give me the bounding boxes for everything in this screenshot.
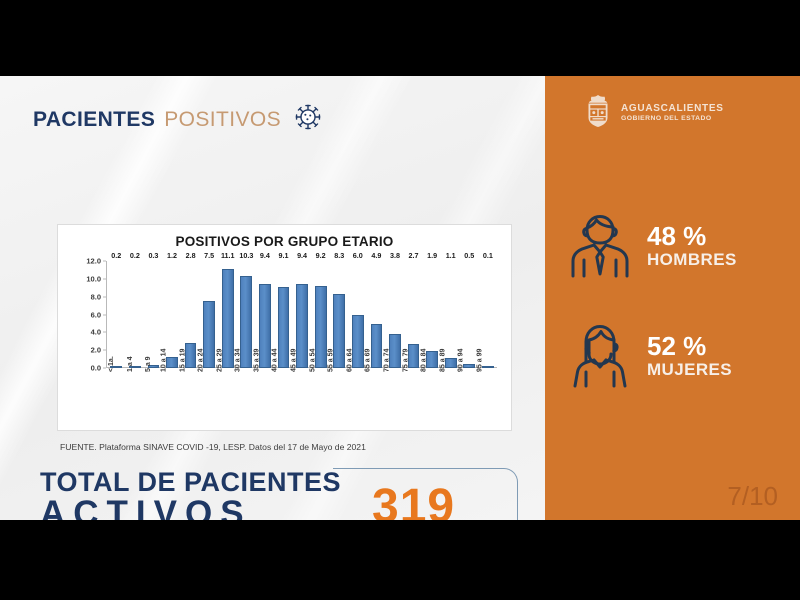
slide-header: PACIENTES POSITIVOS — [33, 102, 323, 137]
x-tick-label: 85 a 89 — [439, 349, 446, 372]
y-tick-label: 2.0 — [91, 346, 101, 355]
logo-title: AGUASCALIENTES — [621, 103, 724, 115]
government-logo: AGUASCALIENTES GOBIERNO DEL ESTADO — [583, 94, 724, 133]
bar-value-label: 9.2 — [316, 251, 326, 260]
bar-value-label: 1.1 — [446, 251, 456, 260]
x-tick-label: 60 a 64 — [346, 349, 353, 372]
stat-percent: 52 % — [647, 333, 732, 360]
bar[interactable]: 9.2 — [315, 286, 327, 368]
x-tick-label: 90 a 94 — [458, 349, 465, 372]
stat-hombres: 48 % HOMBRES — [567, 208, 737, 285]
bar[interactable]: 6.0 — [352, 315, 364, 369]
total-value: 319 — [372, 479, 455, 520]
y-tick-mark — [103, 350, 106, 351]
stat-text: 48 % HOMBRES — [647, 223, 737, 270]
bar-value-label: 7.5 — [204, 251, 214, 260]
x-tick-label: 65 a 69 — [365, 349, 372, 372]
x-tick-label: 20 a 24 — [197, 349, 204, 372]
bar[interactable]: 0.5 — [463, 364, 475, 368]
bar[interactable]: 1.2 — [166, 357, 178, 368]
x-tick-label: 45 a 49 — [290, 349, 297, 372]
bar[interactable]: 9.4 — [296, 284, 308, 368]
stat-label: HOMBRES — [647, 250, 737, 270]
bar-value-label: 3.8 — [390, 251, 400, 260]
bar-value-label: 2.8 — [186, 251, 196, 260]
y-tick-label: 10.0 — [86, 274, 101, 283]
bar-value-label: 0.3 — [148, 251, 158, 260]
bar-series: 0.2< 1a.0.21 a 40.35 a 91.210 a 142.815 … — [107, 261, 497, 368]
bar-value-label: 11.1 — [221, 251, 235, 260]
header-title-bold: PACIENTES — [33, 108, 155, 132]
x-tick-label: 55 a 59 — [328, 349, 335, 372]
total-block: TOTAL DE PACIENTES ACTIVOS — [40, 468, 341, 520]
x-tick-label: 40 a 44 — [272, 349, 279, 372]
bar[interactable]: 0.1 — [482, 366, 494, 368]
slide-stage: PACIENTES POSITIVOS — [0, 0, 800, 600]
bar-value-label: 2.7 — [409, 251, 419, 260]
y-tick-mark — [103, 278, 106, 279]
bar[interactable]: 3.8 — [389, 334, 401, 368]
total-label-line2: ACTIVOS — [40, 496, 341, 520]
x-tick-label: 50 a 54 — [309, 349, 316, 372]
bar-value-label: 0.1 — [483, 251, 493, 260]
logo-text: AGUASCALIENTES GOBIERNO DEL ESTADO — [621, 103, 724, 123]
bar[interactable]: 7.5 — [203, 301, 215, 368]
male-avatar-icon — [567, 208, 633, 285]
x-tick-label: < 1a. — [108, 356, 115, 372]
bar-value-label: 6.0 — [353, 251, 363, 260]
bar-value-label: 4.9 — [371, 251, 381, 260]
stat-mujeres: 52 % MUJERES — [567, 318, 732, 395]
bar[interactable]: 11.1 — [222, 269, 234, 368]
y-tick-label: 4.0 — [91, 328, 101, 337]
bar-value-label: 9.4 — [297, 251, 307, 260]
y-tick-mark — [103, 296, 106, 297]
coat-of-arms-icon — [583, 94, 613, 133]
x-tick-label: 35 a 39 — [253, 349, 260, 372]
x-tick-label: 80 a 84 — [420, 349, 427, 372]
bar[interactable]: 2.7 — [408, 344, 420, 368]
stat-text: 52 % MUJERES — [647, 333, 732, 380]
y-tick-mark — [103, 332, 106, 333]
bar-column[interactable]: 0.2< 1a. — [107, 261, 126, 368]
bar-value-label: 9.1 — [278, 251, 288, 260]
header-title-light: POSITIVOS — [164, 108, 281, 132]
bar-value-label: 0.2 — [130, 251, 140, 260]
y-tick-mark — [103, 314, 106, 315]
bar[interactable]: 9.4 — [259, 284, 271, 368]
bar[interactable]: 9.1 — [278, 287, 290, 368]
y-tick-label: 12.0 — [86, 257, 101, 266]
bar[interactable]: 1.9 — [426, 351, 438, 368]
page-number: 7/10 — [727, 481, 778, 512]
bar-value-label: 8.3 — [334, 251, 344, 260]
bar[interactable]: 1.1 — [445, 358, 457, 368]
bar-value-label: 10.3 — [239, 251, 253, 260]
total-label-line1: TOTAL DE PACIENTES — [40, 468, 341, 496]
x-tick-label: 10 a 14 — [160, 349, 167, 372]
x-tick-label: 25 a 29 — [216, 349, 223, 372]
y-tick-mark — [103, 368, 106, 369]
bar[interactable]: 4.9 — [371, 324, 383, 368]
bar[interactable]: 10.3 — [240, 276, 252, 368]
stat-label: MUJERES — [647, 360, 732, 380]
bar-column[interactable]: 0.195 a 99 — [479, 261, 498, 368]
bar-value-label: 1.9 — [427, 251, 437, 260]
x-tick-label: 1 a 4 — [127, 356, 134, 372]
x-tick-label: 5 a 9 — [146, 356, 153, 372]
chart-plot-area: 0.02.04.06.08.010.012.0 0.2< 1a.0.21 a 4… — [106, 261, 497, 368]
x-tick-label: 95 a 99 — [476, 349, 483, 372]
y-tick-label: 8.0 — [91, 292, 101, 301]
source-note: FUENTE. Plataforma SINAVE COVID -19, LES… — [60, 442, 366, 452]
slide-content: PACIENTES POSITIVOS — [0, 76, 800, 520]
y-tick-mark — [103, 261, 106, 262]
bar-value-label: 0.5 — [464, 251, 474, 260]
female-avatar-icon — [567, 318, 633, 395]
y-tick-label: 6.0 — [91, 310, 101, 319]
virus-icon — [293, 102, 323, 137]
chart-title: POSITIVOS POR GRUPO ETARIO — [58, 234, 511, 249]
bar-value-label: 9.4 — [260, 251, 270, 260]
stat-percent: 48 % — [647, 223, 737, 250]
bar-value-label: 0.2 — [111, 251, 121, 260]
y-tick-label: 0.0 — [91, 364, 101, 373]
x-tick-label: 15 a 19 — [179, 349, 186, 372]
x-tick-label: 70 a 74 — [383, 349, 390, 372]
chart-card: POSITIVOS POR GRUPO ETARIO 0.02.04.06.08… — [57, 224, 512, 431]
x-tick-label: 75 a 79 — [402, 349, 409, 372]
bar[interactable]: 8.3 — [333, 294, 345, 368]
sidebar-panel: AGUASCALIENTES GOBIERNO DEL ESTADO — [545, 76, 800, 520]
bar[interactable]: 2.8 — [185, 343, 197, 368]
logo-subtitle: GOBIERNO DEL ESTADO — [621, 115, 724, 124]
bar-column[interactable]: 0.21 a 4 — [126, 261, 145, 368]
bar-value-label: 1.2 — [167, 251, 177, 260]
x-tick-label: 30 a 34 — [235, 349, 242, 372]
